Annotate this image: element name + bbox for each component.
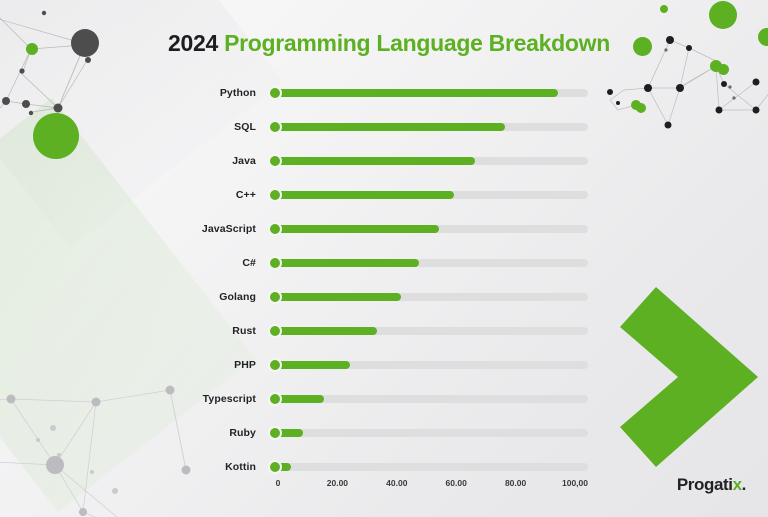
chart-bar-knob[interactable] <box>268 290 282 304</box>
chart-bar-area[interactable] <box>268 144 588 178</box>
chart-bar-fill <box>276 259 419 267</box>
chart-bar-track <box>276 429 588 437</box>
chart-bar-knob[interactable] <box>268 392 282 406</box>
brand-logo: Progatix. <box>677 475 746 495</box>
chart-bar-area[interactable] <box>268 246 588 280</box>
chart-bar-area[interactable] <box>268 178 588 212</box>
chart-bar-fill <box>276 225 439 233</box>
chart-row: Rust <box>0 314 768 348</box>
x-axis: 020.0040.0060.0080.00100,00 <box>268 478 588 498</box>
title-rest: Programming Language Breakdown <box>224 30 610 56</box>
chart-row-label: Kottin <box>0 461 268 473</box>
logo-accent: x <box>733 475 742 494</box>
chart-bar-area[interactable] <box>268 280 588 314</box>
chart-bar-fill <box>276 395 324 403</box>
axis-tick-label: 80.00 <box>505 478 526 488</box>
chart-row-label: Golang <box>0 291 268 303</box>
green-circle-b <box>633 37 652 56</box>
chart-bar-area[interactable] <box>268 314 588 348</box>
title-year: 2024 <box>168 30 218 56</box>
chart-bar-knob[interactable] <box>268 324 282 338</box>
chart-bar-knob[interactable] <box>268 188 282 202</box>
language-bar-chart: PythonSQLJavaC++JavaScriptC#GolangRustPH… <box>0 76 768 484</box>
chart-bar-knob[interactable] <box>268 154 282 168</box>
chart-row-label: C++ <box>0 189 268 201</box>
chart-row-label: PHP <box>0 359 268 371</box>
logo-name: Progati <box>677 475 733 494</box>
axis-tick-label: 60.00 <box>446 478 467 488</box>
chart-bar-knob[interactable] <box>268 460 282 474</box>
chart-row-label: Java <box>0 155 268 167</box>
chart-row-label: C# <box>0 257 268 269</box>
chart-row: SQL <box>0 110 768 144</box>
chart-bar-knob[interactable] <box>268 426 282 440</box>
chart-row-label: Typescript <box>0 393 268 405</box>
green-circle-a <box>709 1 737 29</box>
chart-row-label: Rust <box>0 325 268 337</box>
chart-row: Ruby <box>0 416 768 450</box>
chart-bar-fill <box>276 89 558 97</box>
chart-bar-area[interactable] <box>268 212 588 246</box>
axis-tick-label: 0 <box>276 478 281 488</box>
chart-row-label: JavaScript <box>0 223 268 235</box>
infographic-canvas: 2024 Programming Language Breakdown Pyth… <box>0 0 768 517</box>
chart-bar-fill <box>276 361 350 369</box>
axis-tick-label: 100,00 <box>562 478 588 488</box>
chart-row: JavaScript <box>0 212 768 246</box>
chart-bar-area[interactable] <box>268 416 588 450</box>
chart-row-label: Python <box>0 87 268 99</box>
chart-bar-knob[interactable] <box>268 120 282 134</box>
chart-bar-area[interactable] <box>268 348 588 382</box>
chart-row: Java <box>0 144 768 178</box>
green-circle-c <box>660 5 668 13</box>
chart-row-label: SQL <box>0 121 268 133</box>
chart-row: PHP <box>0 348 768 382</box>
chart-row: C++ <box>0 178 768 212</box>
green-circle-d <box>758 28 768 46</box>
chart-bar-fill <box>276 191 454 199</box>
chart-bar-fill <box>276 293 401 301</box>
chart-bar-fill <box>276 157 475 165</box>
page-title: 2024 Programming Language Breakdown <box>168 30 610 57</box>
green-circle-e <box>718 64 729 75</box>
axis-tick-label: 40.00 <box>386 478 407 488</box>
chart-bar-area[interactable] <box>268 76 588 110</box>
chart-row: Typescript <box>0 382 768 416</box>
chart-bar-knob[interactable] <box>268 256 282 270</box>
chart-bar-area[interactable] <box>268 382 588 416</box>
chart-bar-fill <box>276 123 505 131</box>
chart-bar-area[interactable] <box>268 110 588 144</box>
chart-row: Golang <box>0 280 768 314</box>
chart-row: C# <box>0 246 768 280</box>
logo-dot: . <box>742 475 746 494</box>
chart-bar-track <box>276 463 588 471</box>
chart-bar-knob[interactable] <box>268 222 282 236</box>
chart-bar-knob[interactable] <box>268 86 282 100</box>
axis-tick-label: 20.00 <box>327 478 348 488</box>
chart-bar-knob[interactable] <box>268 358 282 372</box>
chart-row: Python <box>0 76 768 110</box>
chart-bar-fill <box>276 327 377 335</box>
chart-row-label: Ruby <box>0 427 268 439</box>
